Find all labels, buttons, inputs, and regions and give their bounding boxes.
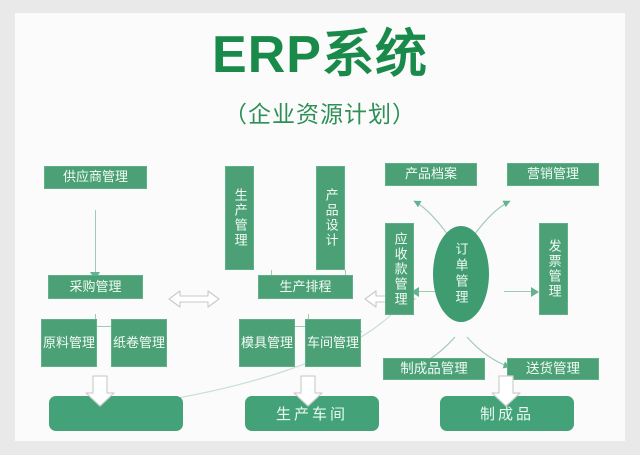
node-marketing-management[interactable]: 营销管理: [507, 163, 599, 186]
node-product-archive[interactable]: 产品档案: [385, 163, 477, 186]
node-production-scheduling[interactable]: 生产排程: [258, 275, 353, 299]
node-receivables-management[interactable]: 应收款管理: [385, 223, 414, 315]
node-supplier-management[interactable]: 供应商管理: [44, 166, 147, 189]
node-order-management[interactable]: 订单管理: [433, 226, 489, 322]
node-mold-management[interactable]: 模具管理: [239, 319, 295, 367]
node-raw-material-management[interactable]: 原料管理: [41, 319, 97, 367]
double-arrow-icon-left: [167, 288, 221, 310]
block-arrow-down-icon-production-workshop: [291, 374, 325, 408]
node-paper-roll-management[interactable]: 纸卷管理: [111, 319, 167, 367]
node-production-management[interactable]: 生产管理: [225, 166, 254, 270]
node-product-design[interactable]: 产品设计: [316, 166, 345, 270]
node-finished-goods-management[interactable]: 制成品管理: [383, 358, 485, 380]
block-arrow-down-icon-finished-goods: [489, 374, 523, 408]
node-workshop-management[interactable]: 车间管理: [305, 319, 361, 367]
node-procurement-management[interactable]: 采购管理: [48, 275, 143, 299]
node-invoice-management[interactable]: 发票管理: [539, 223, 568, 315]
block-arrow-down-icon-warehouse: [83, 374, 117, 408]
diagram-canvas: ERP系统 （企业资源计划）: [15, 13, 625, 441]
